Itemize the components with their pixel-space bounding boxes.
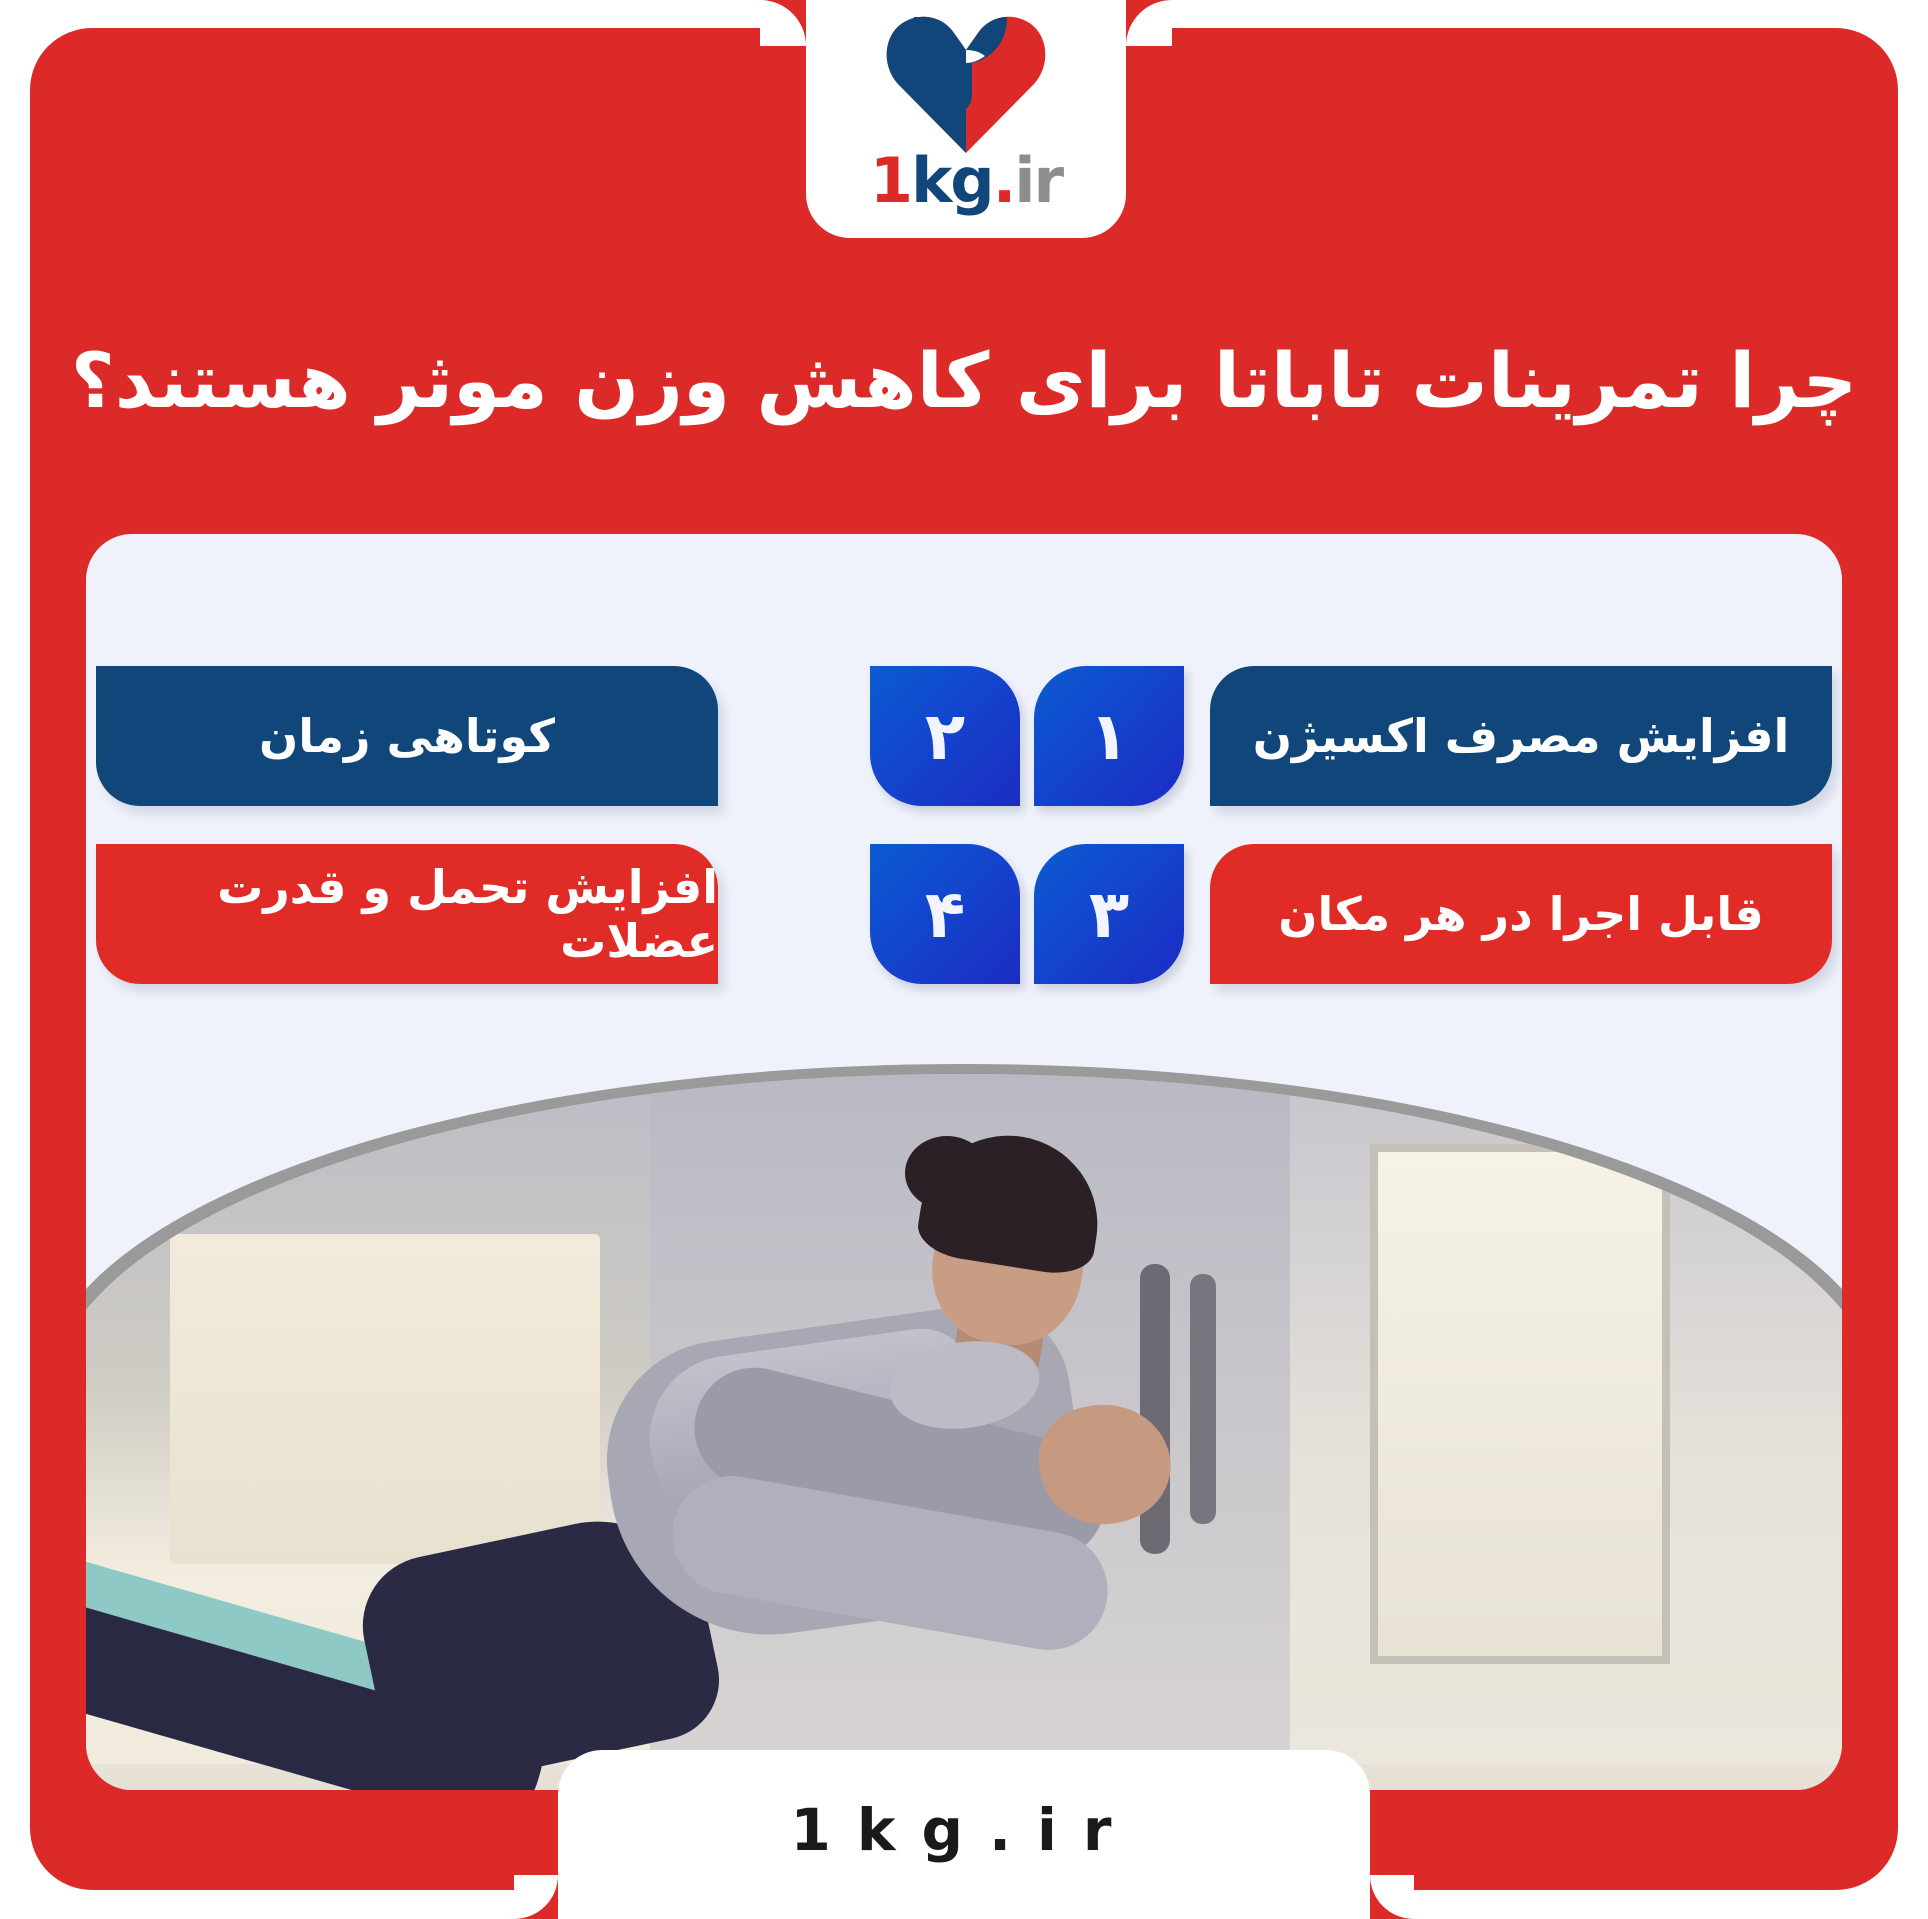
benefit-number-2: ۲ [925,698,965,775]
content-card: افزایش مصرف اکسیژن ۱ ۲ کوتاهی زمان قابل … [86,534,1842,1790]
logo-notch-fillet-left [760,0,806,46]
benefit-label-1: افزایش مصرف اکسیژن [1253,709,1789,763]
benefit-number-badge-1: ۱ [1034,666,1184,806]
benefit-number-4: ۴ [925,876,965,953]
footer-website-label: 1kg.ir [558,1796,1370,1864]
benefit-pill-3[interactable]: قابل اجرا در هر مکان [1210,844,1832,984]
benefit-number-badge-3: ۳ [1034,844,1184,984]
wordmark-ir: ir [1014,144,1062,217]
photo-wall-panel [170,1234,600,1564]
athlete-hair-bun [905,1136,989,1210]
wordmark-dot: . [993,144,1015,217]
benefit-number-badge-2: ۲ [870,666,1020,806]
photo-equipment-rack [1190,1274,1216,1524]
benefit-number-badge-4: ۴ [870,844,1020,984]
benefit-pill-4[interactable]: افزایش تحمل و قدرت عضلات [96,844,718,984]
benefit-row: افزایش مصرف اکسیژن ۱ ۲ کوتاهی زمان [86,666,1842,816]
page-title: چرا تمرینات تاباتا برای کاهش وزن موثر هس… [30,330,1898,433]
hero-photo-frame [86,1064,1842,1790]
benefit-label-3: قابل اجرا در هر مکان [1278,887,1763,941]
brand-logo-plate[interactable]: 1kg.ir [806,0,1126,238]
benefit-label-4: افزایش تحمل و قدرت عضلات [96,860,718,968]
photo-window [1370,1144,1670,1664]
benefit-pill-2[interactable]: کوتاهی زمان [96,666,718,806]
wordmark-one: 1 [870,144,911,217]
benefit-row: قابل اجرا در هر مکان ۳ ۴ افزایش تحمل و ق… [86,844,1842,994]
benefit-label-2: کوتاهی زمان [259,709,555,763]
benefit-pill-1[interactable]: افزایش مصرف اکسیژن [1210,666,1832,806]
benefit-number-3: ۳ [1089,876,1129,953]
footer-notch-fillet-left [514,1875,558,1919]
logo-notch-fillet-right [1126,0,1172,46]
footer-notch-fillet-right [1370,1875,1414,1919]
heart-with-flexed-arm-icon [886,6,1046,154]
wordmark-kg: kg [911,144,993,217]
hero-photo [86,1074,1842,1790]
brand-wordmark: 1kg.ir [870,150,1062,212]
benefit-number-1: ۱ [1089,698,1129,775]
